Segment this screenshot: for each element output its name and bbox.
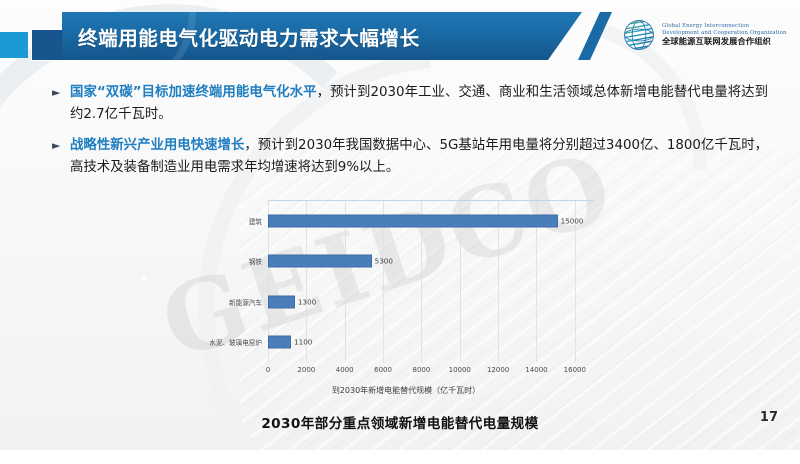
slide-canvas: 终端用能电气化驱动电力需求大幅增长 Global Energ [0, 0, 800, 450]
bullet-highlight: 国家“双碳”目标加速终端用能电气化水平 [70, 85, 317, 100]
organization-logo: Global Energy Interconnection Developmen… [622, 13, 798, 57]
bullet-arrow-icon: ► [52, 82, 70, 103]
chart-category-label: 水泥、玻璃电窑炉 [209, 337, 262, 347]
bullet-arrow-icon: ► [52, 135, 70, 156]
chart-x-tick-label: 12000 [487, 366, 509, 374]
globe-grid-logo-icon [622, 18, 656, 52]
chart-value-label: 15000 [561, 217, 584, 226]
chart-plot-area: 0200040006000800010000120001400016000建筑1… [268, 200, 594, 362]
chart-value-label: 5300 [375, 257, 393, 266]
chart-x-tick-label: 0 [266, 366, 270, 374]
logo-line-cn: 全球能源互联网发展合作组织 [662, 37, 787, 46]
title-bar-banner: 终端用能电气化驱动电力需求大幅增长 [62, 12, 582, 60]
chart-x-tick-label: 16000 [564, 366, 586, 374]
chart-category-label: 建筑 [249, 216, 262, 226]
chart-bar [268, 255, 372, 268]
chart-x-tick-label: 8000 [412, 366, 430, 374]
bar-chart: 0200040006000800010000120001400016000建筑1… [196, 198, 616, 394]
chart-x-tick-label: 14000 [525, 366, 547, 374]
chart-x-tick-label: 10000 [449, 366, 471, 374]
chart-x-tick-label: 4000 [336, 366, 354, 374]
bullet-list: ► 国家“双碳”目标加速终端用能电气化水平，预计到2030年工业、交通、商业和生… [52, 82, 768, 188]
chart-x-axis-title: 到2030年新增电能替代规模（亿千瓦时） [196, 385, 616, 396]
figure-caption: 2030年部分重点领域新增电能替代电量规模 [0, 412, 800, 432]
bullet-item: ► 战略性新兴产业用电快速增长，预计到2030年我国数据中心、5G基站年用电量将… [52, 135, 768, 179]
logo-text-block: Global Energy Interconnection Developmen… [662, 23, 787, 46]
logo-line-en-2: Development and Cooperation Organization [662, 30, 787, 36]
chart-bar [268, 215, 558, 228]
chart-bar [268, 335, 291, 348]
bullet-text: 国家“双碳”目标加速终端用能电气化水平，预计到2030年工业、交通、商业和生活领… [70, 82, 768, 126]
bullet-text: 战略性新兴产业用电快速增长，预计到2030年我国数据中心、5G基站年用电量将分别… [70, 135, 768, 179]
chart-x-tick-label: 6000 [374, 366, 392, 374]
title-bar-diagonal-sliver [578, 12, 612, 60]
chart-value-label: 1300 [298, 297, 316, 306]
chart-category-label: 钢铁 [249, 256, 262, 266]
page-number: 17 [760, 410, 778, 425]
chart-bar [268, 295, 295, 308]
page-title: 终端用能电气化驱动电力需求大幅增长 [78, 22, 420, 51]
bullet-highlight: 战略性新兴产业用电快速增长 [70, 138, 244, 153]
chart-category-label: 新能源汽车 [229, 297, 262, 307]
bullet-item: ► 国家“双碳”目标加速终端用能电气化水平，预计到2030年工业、交通、商业和生… [52, 82, 768, 126]
chart-value-label: 1100 [294, 337, 312, 346]
title-accent-square-light [0, 32, 28, 58]
chart-x-tick-label: 2000 [297, 366, 315, 374]
